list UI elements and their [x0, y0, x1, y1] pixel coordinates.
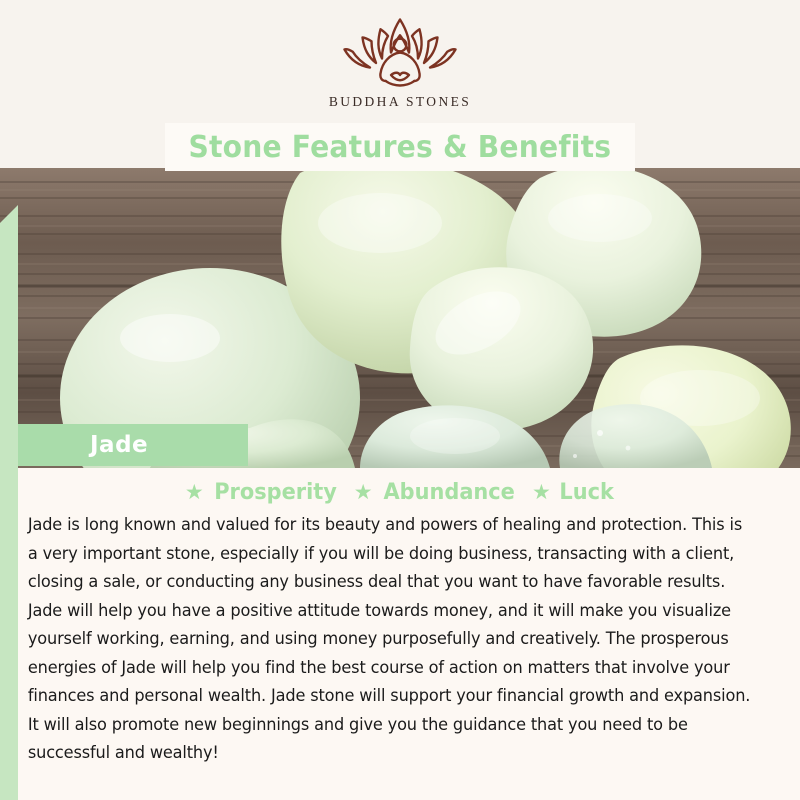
stone-photo-graphic	[0, 168, 800, 468]
star-icon: ★	[185, 482, 204, 503]
content-inner: ★ Prosperity ★ Abundance ★ Luck Jade is …	[18, 468, 782, 800]
benefit-item-prosperity: ★ Prosperity	[185, 480, 340, 505]
title-plaque: Stone Features & Benefits	[165, 123, 635, 171]
decorative-green-left-strip	[0, 205, 18, 800]
star-icon: ★	[532, 482, 551, 503]
stone-photo	[0, 168, 800, 468]
brand-name: BUDDHA STONES	[329, 94, 471, 110]
stone-name-bar: Jade	[18, 424, 248, 466]
brand-logo: BUDDHA STONES	[0, 12, 800, 110]
benefit-label: Luck	[559, 480, 613, 505]
infographic-page: BUDDHA STONES Stone Features & Benefits	[0, 0, 800, 800]
page-title: Stone Features & Benefits	[189, 130, 612, 165]
content-panel: ★ Prosperity ★ Abundance ★ Luck Jade is …	[0, 468, 800, 800]
benefits-row: ★ Prosperity ★ Abundance ★ Luck	[18, 468, 782, 505]
benefit-item-luck: ★ Luck	[532, 480, 615, 505]
lotus-meditation-icon	[324, 12, 476, 90]
stone-description: Jade is long known and valued for its be…	[18, 511, 771, 768]
benefit-label: Abundance	[383, 480, 514, 505]
benefit-item-abundance: ★ Abundance	[354, 480, 518, 505]
star-icon: ★	[354, 482, 373, 503]
benefit-label: Prosperity	[214, 480, 337, 505]
stone-name-label: Jade	[90, 432, 148, 458]
